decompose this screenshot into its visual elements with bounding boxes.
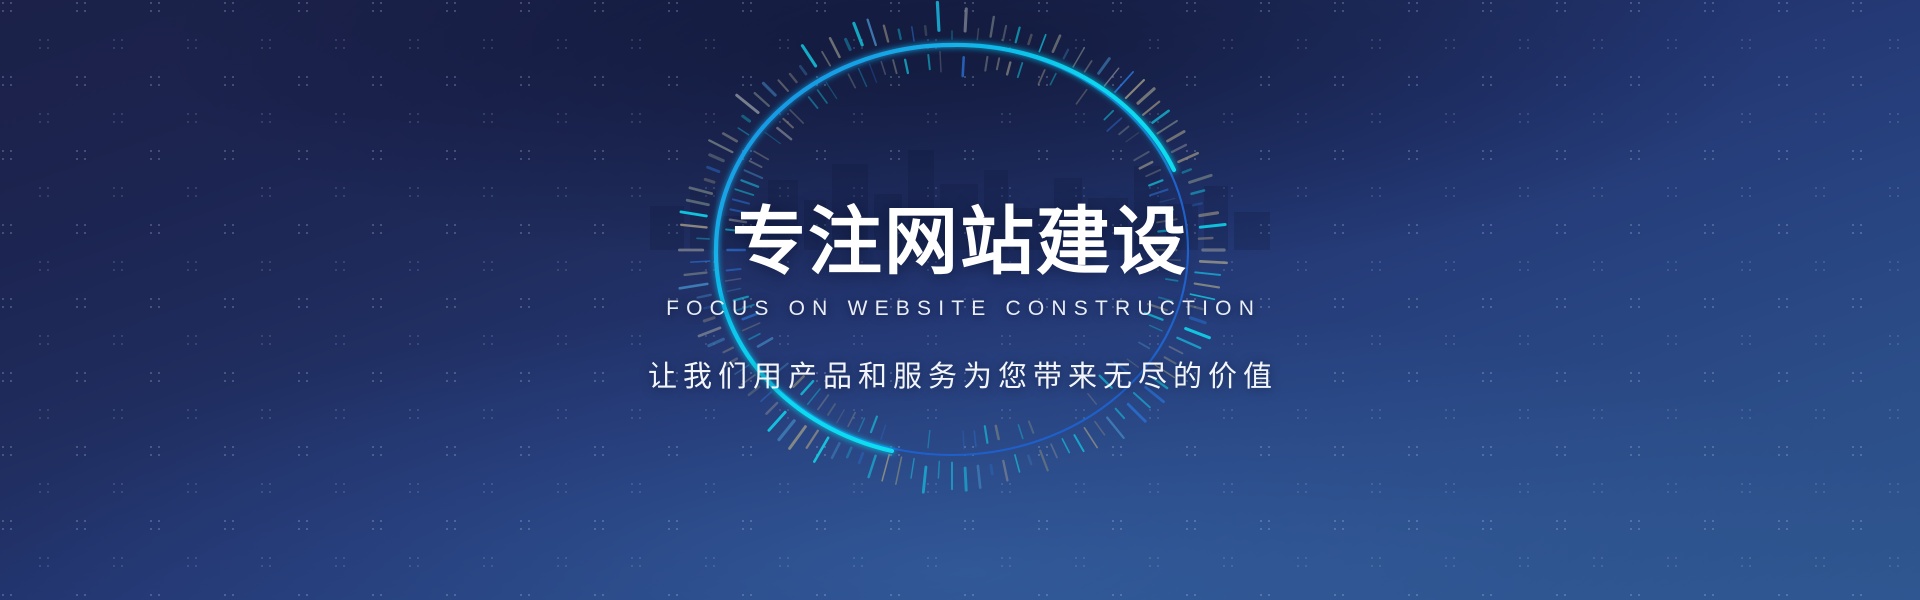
hero-banner: 专注网站建设 FOCUS ON WEBSITE CONSTRUCTION 让我们…: [0, 0, 1920, 600]
banner-headline: 专注网站建设: [732, 205, 1188, 280]
banner-tagline: 让我们用产品和服务为您带来无尽的价值: [642, 353, 1278, 395]
banner-copy: 专注网站建设 FOCUS ON WEBSITE CONSTRUCTION 让我们…: [0, 0, 1920, 600]
banner-subline: FOCUS ON WEBSITE CONSTRUCTION: [659, 297, 1261, 321]
